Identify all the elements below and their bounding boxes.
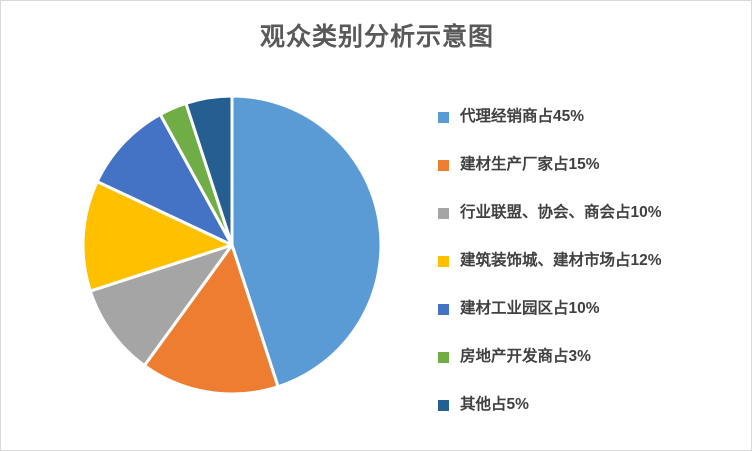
legend-swatch-icon — [438, 160, 449, 171]
legend-item-label: 建材工业园区占10% — [460, 301, 600, 317]
pie-slice-group — [83, 96, 381, 394]
chart-title: 观众类别分析示意图 — [1, 17, 752, 53]
legend-swatch-icon — [438, 400, 449, 411]
legend-swatch-icon — [438, 304, 449, 315]
legend-swatch-icon — [438, 352, 449, 363]
legend-swatch-icon — [438, 208, 449, 219]
legend-item-label: 房地产开发商占3% — [460, 349, 591, 365]
legend-swatch-icon — [438, 256, 449, 267]
legend-swatch-icon — [438, 112, 449, 123]
chart-canvas: 观众类别分析示意图 代理经销商占45%建材生产厂家占15%行业联盟、协会、商会占… — [0, 0, 752, 451]
legend-item[interactable]: 房地产开发商占3% — [438, 333, 738, 381]
legend-item[interactable]: 行业联盟、协会、商会占10% — [438, 189, 738, 237]
pie-chart-svg — [82, 95, 382, 395]
legend-item-label: 建材生产厂家占15% — [460, 157, 600, 173]
legend-item-label: 行业联盟、协会、商会占10% — [460, 205, 662, 221]
legend-item[interactable]: 其他占5% — [438, 381, 738, 429]
legend-item[interactable]: 建材生产厂家占15% — [438, 141, 738, 189]
legend-item-label: 其他占5% — [460, 397, 529, 413]
legend-item-label: 建筑装饰城、建材市场占12% — [460, 253, 662, 269]
chart-legend: 代理经销商占45%建材生产厂家占15%行业联盟、协会、商会占10%建筑装饰城、建… — [438, 93, 738, 429]
legend-item[interactable]: 建筑装饰城、建材市场占12% — [438, 237, 738, 285]
legend-item[interactable]: 代理经销商占45% — [438, 93, 738, 141]
legend-item-label: 代理经销商占45% — [460, 109, 584, 125]
pie-chart-plot-area — [82, 95, 382, 395]
legend-item[interactable]: 建材工业园区占10% — [438, 285, 738, 333]
